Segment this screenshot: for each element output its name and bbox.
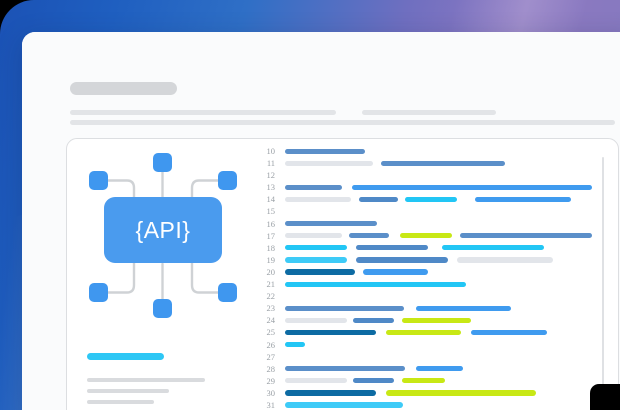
code-tokens	[285, 282, 613, 288]
code-token	[442, 245, 544, 250]
diagram-node-top-center[interactable]	[153, 153, 172, 172]
code-token	[356, 257, 448, 262]
line-number: 29	[253, 376, 275, 387]
code-tokens	[285, 306, 613, 312]
code-token	[356, 245, 428, 250]
code-tokens	[285, 161, 613, 167]
line-number: 25	[253, 327, 275, 338]
code-token	[285, 245, 347, 250]
code-tokens	[285, 342, 613, 348]
code-line[interactable]: 19	[253, 255, 613, 267]
code-token	[285, 306, 404, 311]
code-token	[471, 330, 547, 335]
code-token	[349, 233, 389, 238]
code-line[interactable]: 27	[253, 352, 613, 364]
code-token	[457, 257, 553, 262]
line-number: 12	[253, 170, 275, 181]
line-number: 27	[253, 352, 275, 363]
line-number: 20	[253, 267, 275, 278]
code-line[interactable]: 10	[253, 146, 613, 158]
code-token	[386, 390, 536, 395]
line-number: 11	[253, 158, 275, 169]
code-line[interactable]: 20	[253, 267, 613, 279]
code-line[interactable]: 15	[253, 206, 613, 218]
diagram-node-top-right[interactable]	[218, 171, 237, 190]
line-number: 17	[253, 231, 275, 242]
code-tokens	[285, 221, 613, 227]
line-number: 14	[253, 194, 275, 205]
code-tokens	[285, 185, 613, 191]
code-token	[363, 269, 428, 274]
code-token	[353, 318, 394, 323]
code-token	[285, 282, 466, 287]
left-placeholder-lines	[87, 360, 247, 410]
code-token	[402, 378, 445, 383]
code-token	[475, 197, 571, 202]
accent-heading-bar	[87, 353, 164, 360]
code-token	[285, 318, 347, 323]
code-tokens	[285, 173, 613, 179]
header-placeholder-bar-2	[362, 110, 496, 115]
code-line[interactable]: 14	[253, 194, 613, 206]
code-listing[interactable]: 1011121314151617181920212223242526272829…	[253, 146, 613, 410]
code-tokens	[285, 233, 613, 239]
left-placeholder-line	[87, 400, 154, 404]
code-token	[285, 161, 373, 166]
line-number: 30	[253, 388, 275, 399]
api-diagram: {API}	[79, 151, 247, 311]
code-tokens	[285, 330, 613, 336]
code-token	[416, 366, 463, 371]
code-tokens	[285, 269, 613, 275]
diagram-node-bottom-left[interactable]	[89, 283, 108, 302]
screenshot-stage: {API} 1011121314151617181920212223242526…	[0, 0, 620, 410]
diagram-node-top-left[interactable]	[89, 171, 108, 190]
code-token	[285, 185, 342, 190]
code-token	[405, 197, 457, 202]
code-tokens	[285, 294, 613, 300]
code-line[interactable]: 25	[253, 327, 613, 339]
content-panel: {API} 1011121314151617181920212223242526…	[66, 138, 619, 410]
code-tokens	[285, 197, 613, 203]
code-token	[381, 161, 505, 166]
code-line[interactable]: 30	[253, 388, 613, 400]
header-placeholder-bar-3	[70, 120, 615, 125]
code-token	[285, 269, 355, 274]
line-number: 15	[253, 206, 275, 217]
code-tokens	[285, 390, 613, 396]
code-token	[285, 342, 305, 347]
title-placeholder-pill	[70, 82, 177, 95]
code-line[interactable]: 29	[253, 376, 613, 388]
code-token	[285, 221, 377, 226]
line-number: 10	[253, 146, 275, 157]
code-token	[285, 378, 347, 383]
window-header	[22, 32, 620, 106]
code-line[interactable]: 13	[253, 182, 613, 194]
code-token	[386, 330, 461, 335]
code-line[interactable]: 22	[253, 291, 613, 303]
left-text-block	[87, 353, 247, 410]
line-number: 28	[253, 364, 275, 375]
code-line[interactable]: 31	[253, 400, 613, 410]
code-line[interactable]: 16	[253, 219, 613, 231]
code-token	[285, 402, 403, 407]
line-number: 22	[253, 291, 275, 302]
code-token	[353, 378, 394, 383]
code-tokens	[285, 378, 613, 384]
api-box[interactable]: {API}	[104, 197, 222, 263]
code-line[interactable]: 28	[253, 364, 613, 376]
diagram-node-bottom-center[interactable]	[153, 299, 172, 318]
line-number: 18	[253, 243, 275, 254]
code-line[interactable]: 23	[253, 303, 613, 315]
line-number: 16	[253, 219, 275, 230]
code-line[interactable]: 17	[253, 231, 613, 243]
code-tokens	[285, 366, 613, 372]
left-placeholder-line	[87, 389, 169, 393]
code-token	[359, 197, 398, 202]
line-number: 19	[253, 255, 275, 266]
corner-notch	[590, 384, 620, 410]
code-token	[352, 185, 592, 190]
code-tokens	[285, 149, 613, 155]
api-box-label: {API}	[136, 217, 191, 244]
code-token	[285, 233, 342, 238]
panel-scroll-edge[interactable]	[602, 157, 604, 410]
code-line[interactable]: 24	[253, 315, 613, 327]
code-line[interactable]: 11	[253, 158, 613, 170]
code-token	[400, 233, 452, 238]
code-tokens	[285, 318, 613, 324]
code-token	[285, 330, 376, 335]
code-token	[402, 318, 471, 323]
code-tokens	[285, 245, 613, 251]
diagram-node-bottom-right[interactable]	[218, 283, 237, 302]
line-number: 21	[253, 279, 275, 290]
line-number: 26	[253, 340, 275, 351]
left-placeholder-line	[87, 378, 205, 382]
code-token	[285, 149, 365, 154]
code-line[interactable]: 18	[253, 243, 613, 255]
code-token	[285, 390, 376, 395]
code-token	[416, 306, 511, 311]
header-placeholder-bar-1	[70, 110, 336, 115]
code-line[interactable]: 21	[253, 279, 613, 291]
code-token	[285, 366, 405, 371]
line-number: 24	[253, 315, 275, 326]
code-tokens	[285, 354, 613, 360]
line-number: 13	[253, 182, 275, 193]
browser-window-card: {API} 1011121314151617181920212223242526…	[22, 32, 620, 410]
code-token	[285, 197, 351, 202]
line-number: 23	[253, 303, 275, 314]
code-tokens	[285, 209, 613, 215]
code-line[interactable]: 26	[253, 340, 613, 352]
code-line[interactable]: 12	[253, 170, 613, 182]
code-tokens	[285, 257, 613, 263]
code-token	[460, 233, 592, 238]
code-token	[285, 257, 347, 262]
line-number: 31	[253, 400, 275, 410]
code-tokens	[285, 402, 613, 408]
